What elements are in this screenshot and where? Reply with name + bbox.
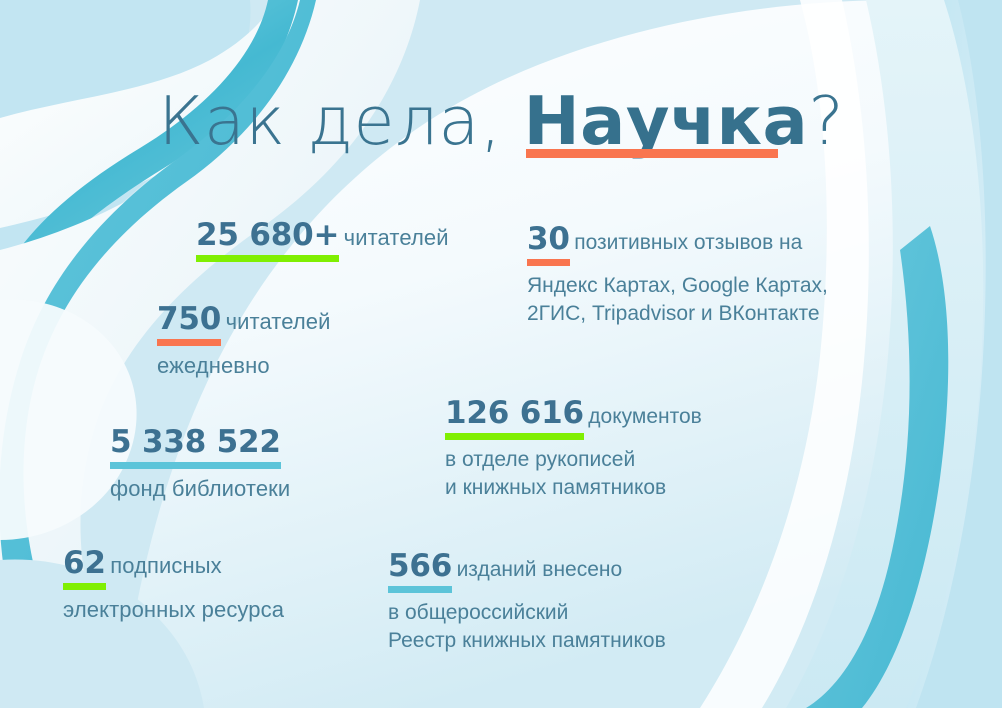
stat-underline-green: [63, 583, 106, 590]
stat-underline-green: [196, 255, 339, 262]
stat-label-line-2: ежедневно: [157, 353, 270, 378]
stat-label-line-3: 2ГИС, Tripadvisor и ВКонтакте: [527, 302, 820, 325]
stat-label-line-1: фонд библиотеки: [110, 476, 290, 501]
title-tail: ?: [808, 82, 844, 160]
stat-readers-daily: 750 читателей ежедневно: [157, 299, 331, 381]
stat-underline-cyan: [388, 586, 452, 593]
stat-label-line-2: Яндекс Картах, Google Картах,: [527, 274, 828, 297]
stat-label-line-2: в общероссийский: [388, 601, 568, 624]
stat-label-line-3: Реестр книжных памятников: [388, 629, 666, 652]
stat-number-wrap: 62: [63, 543, 106, 583]
stat-underline-cyan: [110, 462, 281, 469]
stat-number: 62: [63, 545, 106, 581]
page-title: Как дела, Научка?: [0, 82, 1002, 160]
stat-number-wrap: 750: [157, 299, 221, 339]
stat-label-line-1: изданий внесено: [457, 558, 623, 581]
title-accent-wrap: Научка: [524, 82, 809, 160]
stat-label-line-1: читателей: [344, 225, 449, 250]
stat-number: 126 616: [445, 395, 584, 431]
title-underline-orange: [526, 149, 779, 158]
stat-number-wrap: 25 680+: [196, 215, 339, 255]
stat-label-line-3: и книжных памятников: [445, 476, 666, 499]
stat-positive-reviews: 30 позитивных отзывов на Яндекс Картах, …: [527, 219, 828, 327]
stat-label-line-1: позитивных отзывов на: [574, 231, 802, 254]
stat-number: 5 338 522: [110, 424, 281, 460]
stat-number-wrap: 30: [527, 219, 570, 259]
stat-number: 25 680+: [196, 217, 339, 253]
stat-registry-editions: 566 изданий внесено в общероссийский Рее…: [388, 546, 666, 654]
stat-number-wrap: 566: [388, 546, 452, 586]
stat-number: 30: [527, 221, 570, 257]
stat-number: 750: [157, 301, 221, 337]
stat-library-fund: 5 338 522 фонд библиотеки: [110, 422, 290, 504]
stat-underline-orange: [527, 259, 570, 266]
stat-number-wrap: 126 616: [445, 393, 584, 433]
stat-electronic-resources: 62 подписных электронных ресурса: [63, 543, 284, 625]
stat-label-line-1: подписных: [110, 553, 222, 578]
stat-number-wrap: 5 338 522: [110, 422, 281, 462]
title-lead: Как дела,: [158, 82, 523, 160]
stat-readers-total: 25 680+ читателей: [196, 215, 449, 255]
stat-manuscript-documents: 126 616 документов в отделе рукописей и …: [445, 393, 702, 501]
stat-label-line-2: в отделе рукописей: [445, 448, 635, 471]
infographic-poster: Как дела, Научка? 25 680+ читателей 750 …: [0, 0, 1002, 708]
stat-underline-green: [445, 433, 584, 440]
stat-number: 566: [388, 548, 452, 584]
stat-label-line-1: документов: [588, 405, 702, 428]
stat-label-line-1: читателей: [226, 309, 331, 334]
stat-underline-orange: [157, 339, 221, 346]
stat-label-line-2: электронных ресурса: [63, 597, 284, 622]
